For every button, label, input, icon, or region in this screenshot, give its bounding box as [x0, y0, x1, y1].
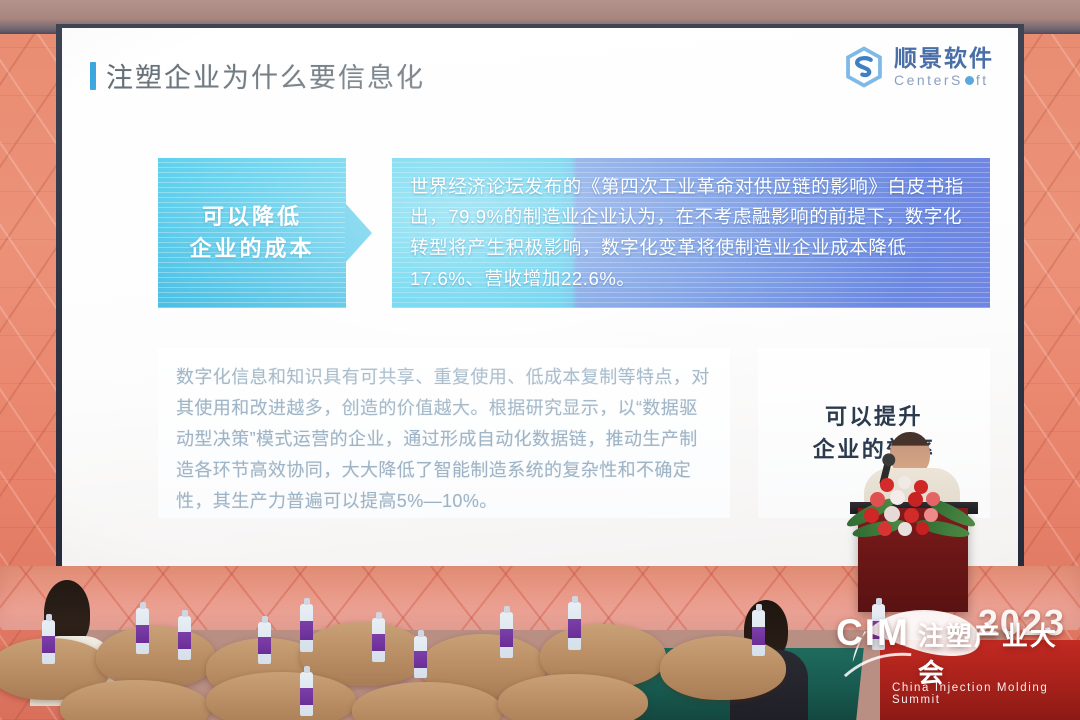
event-logo: 2023 CIM 注塑产业大会 China Injection Molding … — [828, 598, 1074, 714]
conference-scene: 注塑企业为什么要信息化 顺景软件 CenterS ft 可以降低 企业的成本 — [0, 0, 1080, 720]
logo-dot-icon — [965, 76, 974, 85]
logo-english-left: CenterS — [894, 73, 963, 87]
page-title: 注塑企业为什么要信息化 — [106, 56, 425, 95]
water-bottle — [136, 608, 149, 654]
flower-arrangement — [850, 476, 978, 538]
logo-chinese: 顺景软件 — [894, 47, 994, 70]
water-bottle — [752, 610, 765, 656]
event-acronym: CIM — [836, 612, 910, 654]
water-bottle — [178, 616, 191, 660]
cost-banner-text: 世界经济论坛发布的《第四次工业革命对供应链的影响》白皮书指出，79.9%的制造业… — [392, 172, 990, 295]
logo-english: CenterS ft — [894, 73, 994, 87]
cost-label-line-1: 可以降低 — [202, 201, 302, 233]
cost-banner-label: 可以降低 企业的成本 — [158, 158, 346, 308]
slide-title-row: 注塑企业为什么要信息化 — [90, 56, 425, 95]
event-chinese: 注塑产业大会 — [918, 616, 1074, 690]
cost-banner: 可以降低 企业的成本 世界经济论坛发布的《第四次工业革命对供应链的影响》白皮书指… — [158, 158, 990, 308]
water-bottle — [414, 636, 427, 678]
efficiency-paragraph: 数字化信息和知识具有可共享、重复使用、低成本复制等特点，对其使用和改进越多，创造… — [176, 362, 714, 517]
arrow-right-icon — [345, 203, 372, 263]
water-bottle — [42, 620, 55, 664]
efficiency-label-line-1: 可以提升 — [825, 400, 923, 433]
event-english-subtitle: China Injection Molding Summit — [892, 682, 1074, 706]
efficiency-paragraph-card: 数字化信息和知识具有可共享、重复使用、低成本复制等特点，对其使用和改进越多，创造… — [158, 348, 730, 518]
logo-english-right: ft — [976, 73, 989, 87]
water-bottle — [568, 602, 581, 650]
centersoft-hex-s-logo-icon — [843, 46, 885, 88]
water-bottle — [500, 612, 513, 658]
water-bottle — [258, 622, 271, 664]
water-bottle — [372, 618, 385, 662]
cost-banner-body: 世界经济论坛发布的《第四次工业革命对供应链的影响》白皮书指出，79.9%的制造业… — [392, 158, 990, 308]
water-bottle — [300, 672, 313, 716]
event-title-row: CIM 注塑产业大会 — [836, 612, 1074, 690]
title-accent-bar — [90, 62, 96, 90]
company-logo: 顺景软件 CenterS ft — [843, 46, 994, 88]
logo-wordmark: 顺景软件 CenterS ft — [894, 47, 994, 87]
water-bottle — [300, 604, 313, 652]
speaker-podium-group — [836, 430, 1006, 615]
cost-label-line-2: 企业的成本 — [189, 233, 314, 265]
